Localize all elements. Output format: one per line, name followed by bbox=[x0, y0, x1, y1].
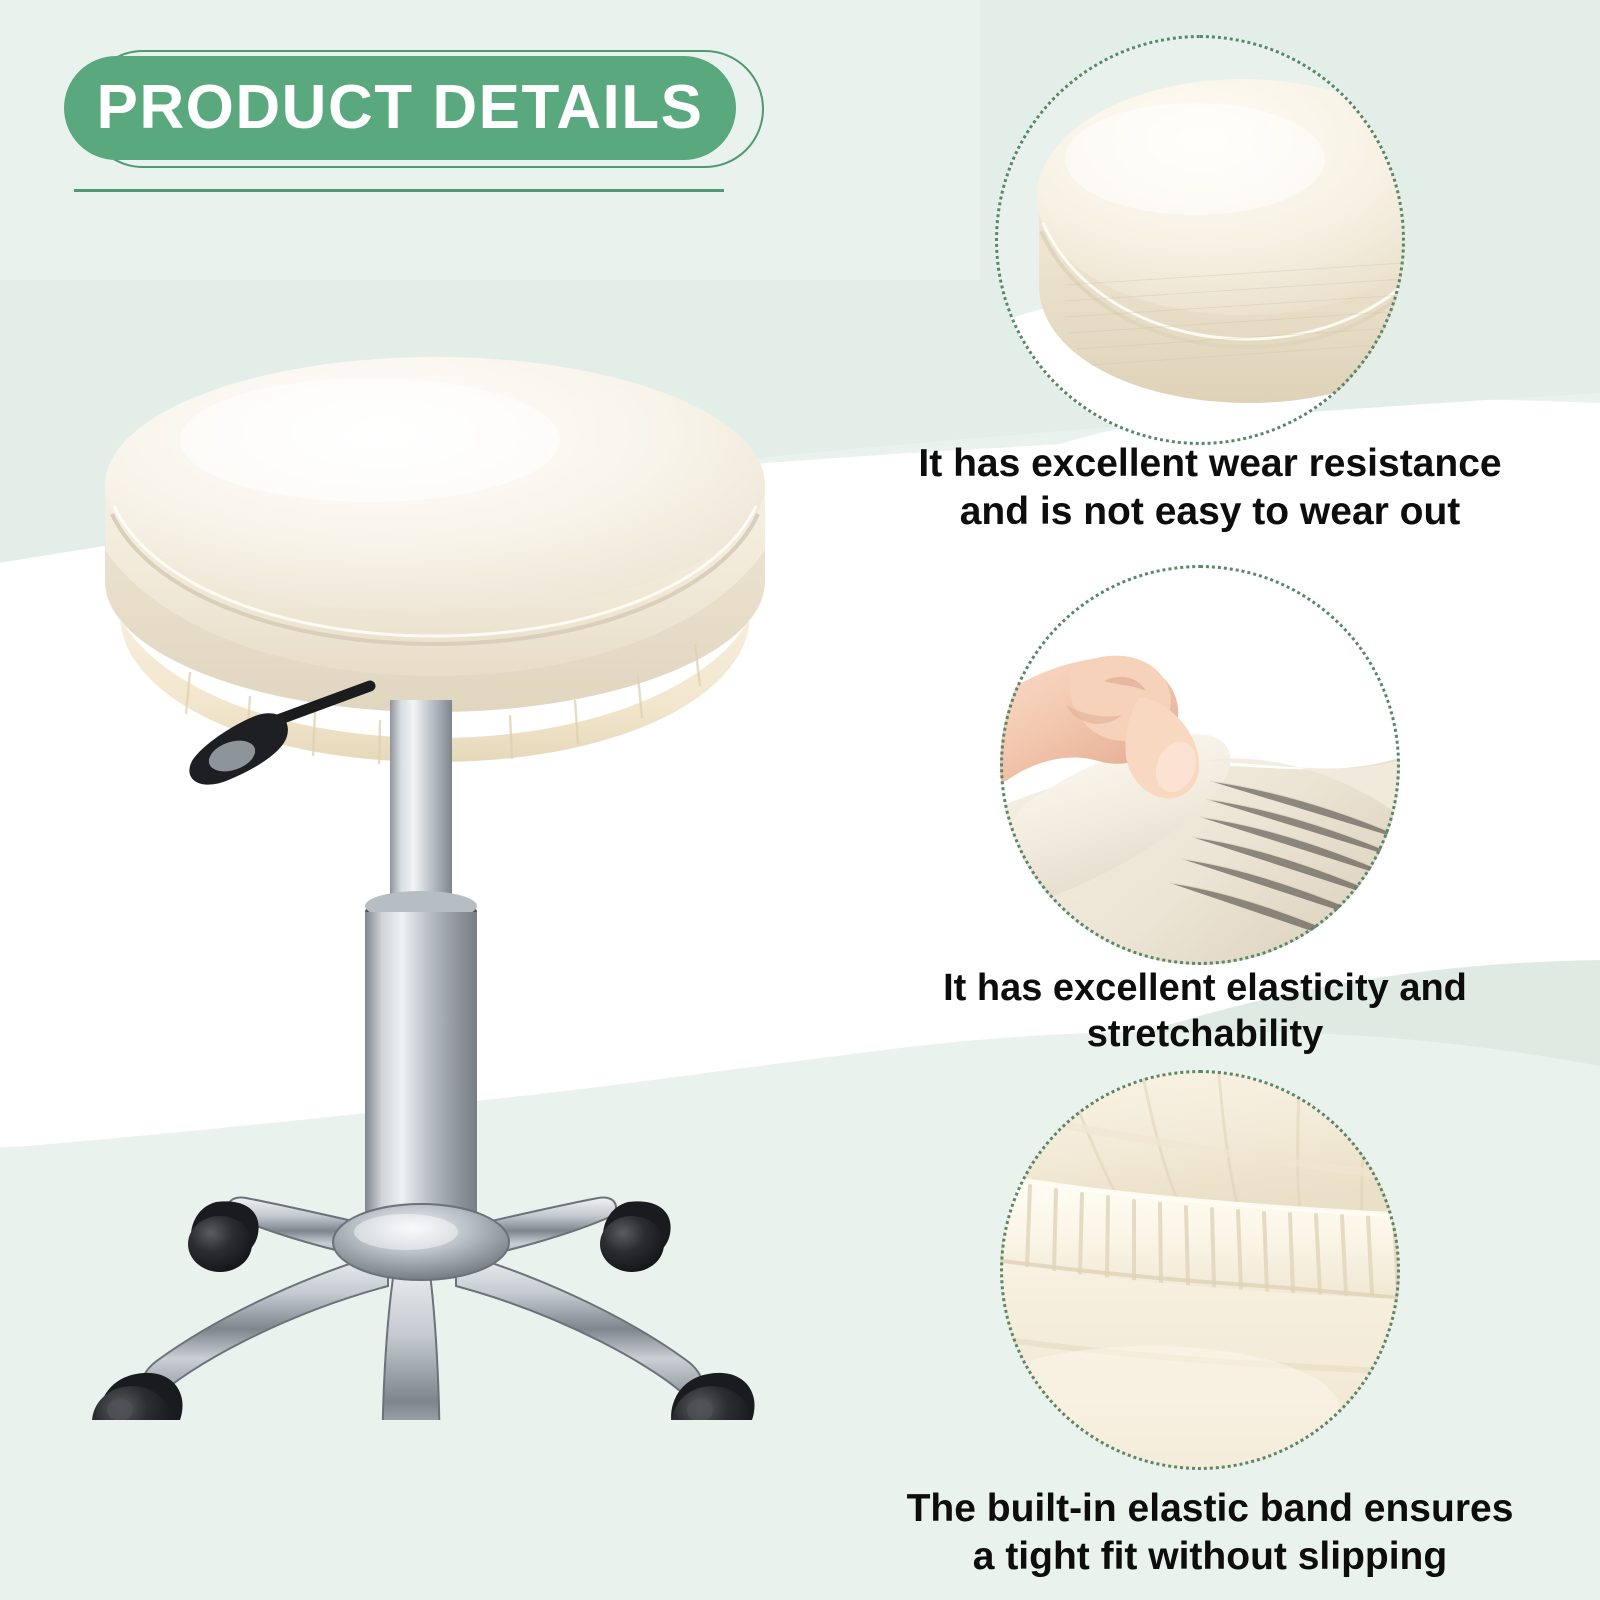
feature-caption-wear-resistance: It has excellent wear resistance and is … bbox=[880, 440, 1540, 535]
caster-back-left bbox=[188, 1201, 259, 1272]
caster-left bbox=[92, 1373, 183, 1420]
product-details-badge: PRODUCT DETAILS bbox=[46, 38, 766, 168]
caption-line: It has excellent elasticity and stretcha… bbox=[820, 965, 1590, 1058]
base-hub-highlight bbox=[354, 1214, 458, 1250]
feature-caption-elasticity: It has excellent elasticity and stretcha… bbox=[820, 965, 1590, 1058]
base-arm-front bbox=[383, 1258, 440, 1420]
caption-line: It has excellent wear resistance bbox=[880, 440, 1540, 488]
gas-lift-column bbox=[365, 700, 477, 1246]
cushion-highlight bbox=[180, 378, 560, 502]
base-arm-left bbox=[142, 1252, 388, 1400]
feature-image-elasticity bbox=[1000, 565, 1400, 965]
badge-underline bbox=[74, 189, 724, 192]
base-arm-right bbox=[456, 1252, 702, 1400]
product-details-banner: PRODUCT DETAILS bbox=[0, 0, 1600, 1600]
badge-pill: PRODUCT DETAILS bbox=[64, 56, 736, 160]
page-title: PRODUCT DETAILS bbox=[97, 77, 704, 139]
lift-outer-cylinder bbox=[365, 912, 477, 1228]
caption-line: a tight fit without slipping bbox=[880, 1533, 1540, 1581]
caption-line: The built-in elastic band ensures bbox=[880, 1485, 1540, 1533]
product-photo-stool bbox=[40, 300, 920, 1420]
feature-image-wear-resistance bbox=[995, 35, 1405, 445]
lift-inner-shaft bbox=[390, 700, 452, 912]
feature-image-elastic-band bbox=[1000, 1070, 1400, 1470]
feature-caption-elastic-band: The built-in elastic band ensures a tigh… bbox=[880, 1485, 1540, 1580]
caption-line: and is not easy to wear out bbox=[880, 488, 1540, 536]
